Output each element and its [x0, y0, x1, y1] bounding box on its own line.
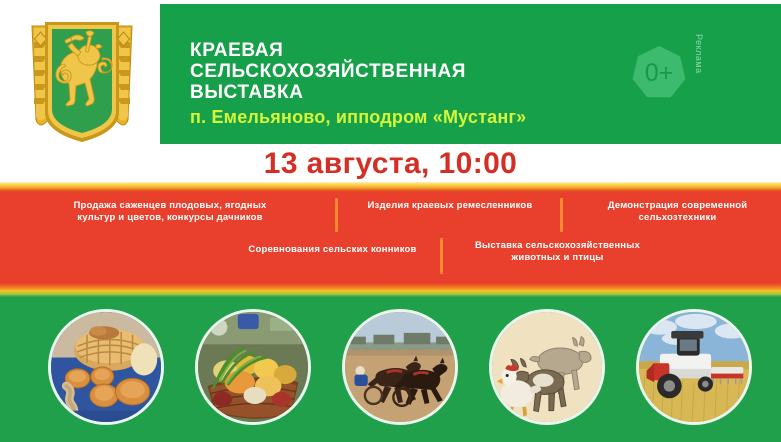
gradient-divider-bottom — [0, 283, 781, 297]
banner-header-section: КРАЕВАЯ СЕЛЬСКОХОЗЯЙСТВЕННАЯ ВЫСТАВКА п.… — [0, 0, 781, 182]
age-rating-label: 0+ — [632, 46, 686, 100]
program-divider-3 — [440, 238, 443, 274]
event-title: КРАЕВАЯ СЕЛЬСКОХОЗЯЙСТВЕННАЯ ВЫСТАВКА — [190, 40, 466, 103]
event-date: 13 августа, 10:00 — [0, 145, 781, 182]
photo-vegetable-harvest — [195, 309, 311, 425]
gradient-divider-top — [0, 182, 781, 192]
photo-baked-goods-basket — [48, 309, 164, 425]
program-band: Продажа саженцев плодовых, ягодных культ… — [0, 192, 781, 283]
photo-horse-racing — [342, 309, 458, 425]
photo-combine-harvester — [636, 309, 752, 425]
program-item-horse-riders: Соревнования сельских конников — [230, 244, 435, 256]
program-item-machinery: Демонстрация современной сельхозтехники — [590, 200, 765, 224]
advertisement-banner: КРАЕВАЯ СЕЛЬСКОХОЗЯЙСТВЕННАЯ ВЫСТАВКА п.… — [0, 0, 781, 442]
photo-gallery-section — [0, 297, 781, 442]
title-line-2: СЕЛЬСКОХОЗЯЙСТВЕННАЯ — [190, 61, 466, 82]
age-rating-badge: 0+ — [632, 46, 686, 100]
title-line-1: КРАЕВАЯ — [190, 40, 466, 61]
photo-farm-animals — [489, 309, 605, 425]
program-item-craftsmen: Изделия краевых ремесленников — [350, 200, 550, 212]
advertisement-label: Реклама — [694, 34, 704, 74]
event-venue: п. Емельяново, ипподром «Мустанг» — [190, 107, 526, 127]
program-item-livestock: Выставка сельскохозяйственных животных и… — [455, 240, 660, 264]
program-divider-1 — [335, 198, 338, 232]
program-item-nursery-sales: Продажа саженцев плодовых, ягодных культ… — [60, 200, 280, 224]
coat-of-arms-emblem — [18, 8, 146, 144]
title-line-3: ВЫСТАВКА — [190, 82, 466, 103]
program-divider-2 — [560, 198, 563, 232]
